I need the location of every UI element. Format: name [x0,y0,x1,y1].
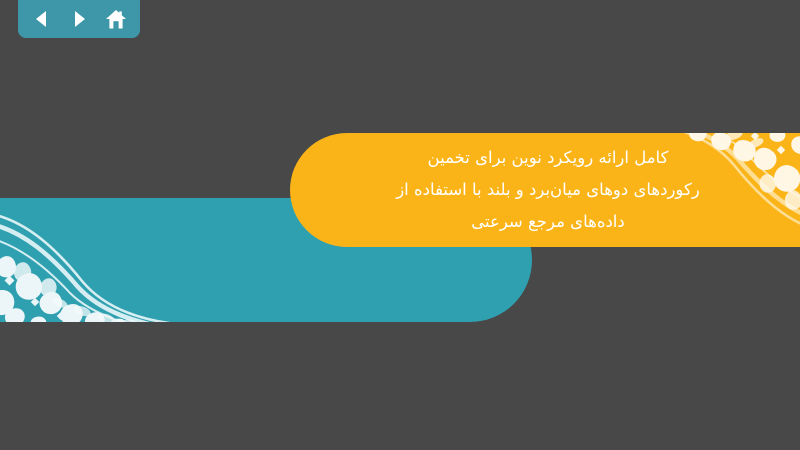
arabesque-ornament-icon [0,199,186,322]
title-line-1: کامل ارائه رویکرد نوین برای تخمین [290,142,800,174]
slide-canvas: کامل ارائه رویکرد نوین برای تخمین رکورده… [0,0,800,450]
slide-title: کامل ارائه رویکرد نوین برای تخمین رکورده… [290,142,800,238]
forward-arrow-icon[interactable] [66,7,92,31]
title-line-2: رکوردهای دوهای میان‌برد و بلند با استفاد… [290,174,800,206]
navigation-bar [18,0,140,38]
home-icon[interactable] [103,7,129,31]
title-panel: کامل ارائه رویکرد نوین برای تخمین رکورده… [290,133,800,247]
back-arrow-icon[interactable] [29,7,55,31]
title-line-3: داده‌های مرجع سرعتی [290,206,800,238]
